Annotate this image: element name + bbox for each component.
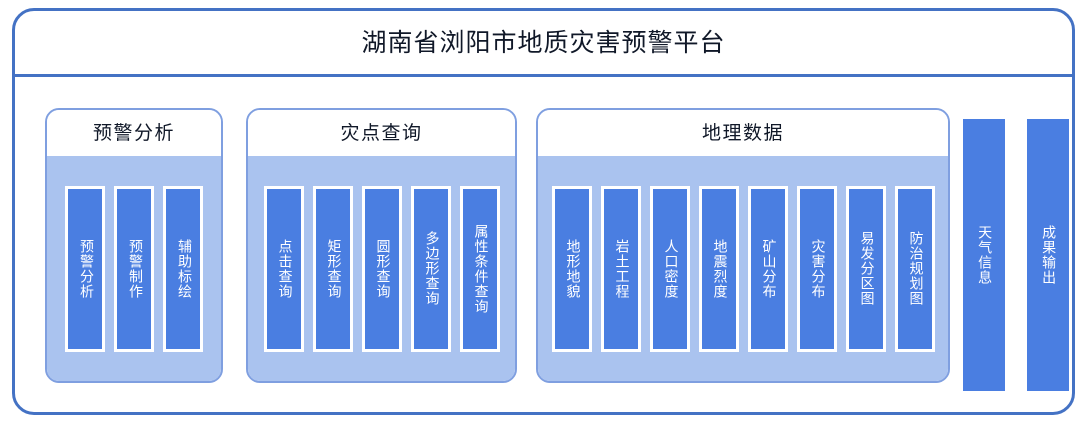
item-label: 岩土工程 bbox=[612, 239, 630, 299]
group-body-disaster-point-query: 点击查询 矩形查询 圆形查询 多边形查询 属性条件查询 bbox=[248, 156, 515, 381]
item-bar[interactable]: 地形地貌 bbox=[552, 186, 592, 352]
standalone-bar-weather-info[interactable]: 天气信息 bbox=[963, 119, 1005, 391]
item-bar[interactable]: 预警分析 bbox=[65, 186, 105, 352]
group-header-warning-analysis: 预警分析 bbox=[47, 110, 221, 156]
standalone-bar-label: 成果输出 bbox=[1039, 225, 1057, 285]
item-bar[interactable]: 矿山分布 bbox=[748, 186, 788, 352]
item-label: 辅助标绘 bbox=[174, 239, 192, 299]
item-bar[interactable]: 矩形查询 bbox=[313, 186, 353, 352]
item-label: 点击查询 bbox=[275, 239, 293, 299]
group-card-disaster-point-query[interactable]: 灾点查询 点击查询 矩形查询 圆形查询 多边形查询 属性条件查询 bbox=[246, 108, 517, 383]
page-title: 湖南省浏阳市地质灾害预警平台 bbox=[361, 30, 725, 55]
item-label: 多边形查询 bbox=[422, 231, 440, 306]
platform-frame: 湖南省浏阳市地质灾害预警平台 预警分析 预警分析 预警制作 辅助标绘 bbox=[12, 8, 1075, 415]
item-label: 预警制作 bbox=[125, 239, 143, 299]
item-label: 矩形查询 bbox=[324, 239, 342, 299]
item-bar[interactable]: 圆形查询 bbox=[362, 186, 402, 352]
item-label: 人口密度 bbox=[661, 239, 679, 299]
item-bar[interactable]: 点击查询 bbox=[264, 186, 304, 352]
group-card-geographic-data[interactable]: 地理数据 地形地貌 岩土工程 人口密度 地震烈度 矿山分布 bbox=[536, 108, 950, 383]
group-header-disaster-point-query: 灾点查询 bbox=[248, 110, 515, 156]
item-label: 地震烈度 bbox=[710, 239, 728, 299]
group-title-geographic-data: 地理数据 bbox=[702, 124, 784, 143]
item-label: 易发分区图 bbox=[857, 231, 875, 306]
item-label: 矿山分布 bbox=[759, 239, 777, 299]
group-header-geographic-data: 地理数据 bbox=[538, 110, 948, 156]
item-bar[interactable]: 地震烈度 bbox=[699, 186, 739, 352]
item-bar[interactable]: 防治规划图 bbox=[895, 186, 935, 352]
item-bar[interactable]: 辅助标绘 bbox=[163, 186, 203, 352]
item-bar[interactable]: 岩土工程 bbox=[601, 186, 641, 352]
item-label: 属性条件查询 bbox=[471, 224, 489, 314]
item-bar[interactable]: 易发分区图 bbox=[846, 186, 886, 352]
item-label: 地形地貌 bbox=[563, 239, 581, 299]
module-groups-row: 预警分析 预警分析 预警制作 辅助标绘 灾点查询 点击查询 bbox=[15, 77, 1072, 412]
group-card-warning-analysis[interactable]: 预警分析 预警分析 预警制作 辅助标绘 bbox=[45, 108, 223, 383]
platform-title-bar: 湖南省浏阳市地质灾害预警平台 bbox=[15, 11, 1072, 77]
group-title-disaster-point-query: 灾点查询 bbox=[340, 124, 422, 143]
standalone-bar-result-output[interactable]: 成果输出 bbox=[1027, 119, 1069, 391]
item-label: 灾害分布 bbox=[808, 239, 826, 299]
item-label: 圆形查询 bbox=[373, 239, 391, 299]
item-bar[interactable]: 人口密度 bbox=[650, 186, 690, 352]
item-bar[interactable]: 灾害分布 bbox=[797, 186, 837, 352]
group-title-warning-analysis: 预警分析 bbox=[93, 124, 175, 143]
standalone-bar-label: 天气信息 bbox=[975, 225, 993, 285]
item-bar[interactable]: 多边形查询 bbox=[411, 186, 451, 352]
item-label: 预警分析 bbox=[76, 239, 94, 299]
group-body-geographic-data: 地形地貌 岩土工程 人口密度 地震烈度 矿山分布 灾害分布 易发 bbox=[538, 156, 948, 381]
group-body-warning-analysis: 预警分析 预警制作 辅助标绘 bbox=[47, 156, 221, 381]
item-label: 防治规划图 bbox=[906, 231, 924, 306]
item-bar[interactable]: 预警制作 bbox=[114, 186, 154, 352]
item-bar[interactable]: 属性条件查询 bbox=[460, 186, 500, 352]
